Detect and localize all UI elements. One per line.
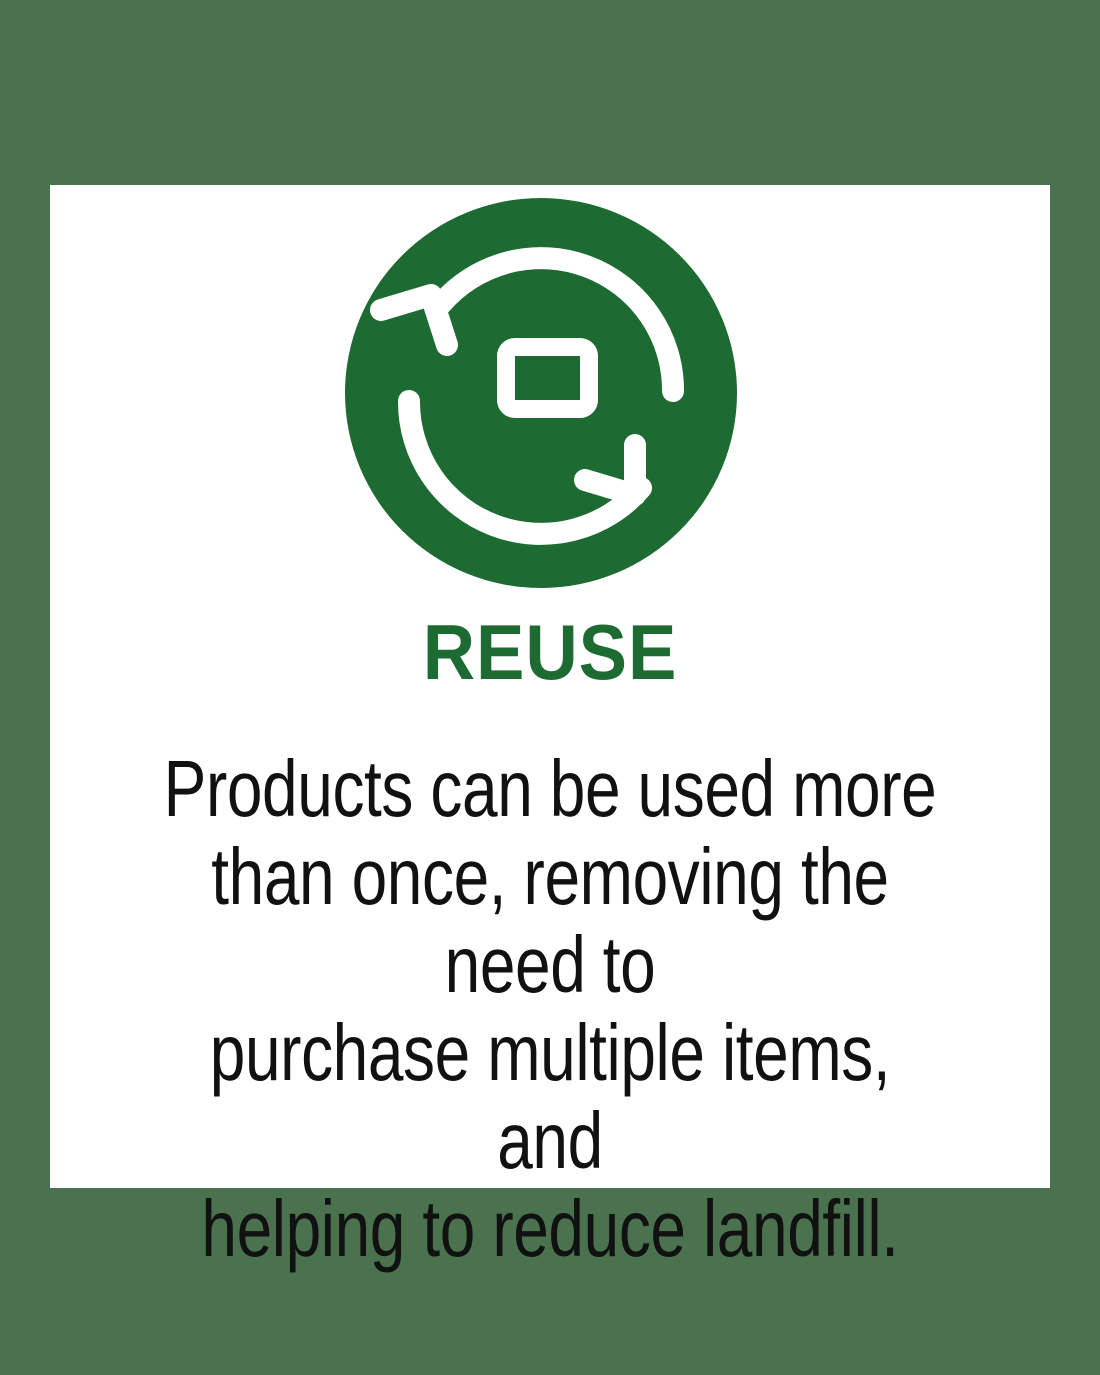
reuse-info-card: REUSE Products can be used more than onc…	[50, 185, 1050, 1188]
cycle-arc-upper	[441, 258, 673, 391]
cycle-arrowhead-up	[381, 295, 447, 345]
cycle-arc-lower	[409, 401, 641, 534]
body-description: Products can be used more than once, rem…	[158, 745, 942, 1273]
cycle-arrowhead-down	[585, 445, 635, 495]
cycle-center-square	[506, 347, 589, 409]
page-title: REUSE	[85, 612, 1015, 692]
reuse-cycle-icon	[345, 198, 737, 588]
reuse-cycle-icon-graphic	[345, 198, 737, 588]
